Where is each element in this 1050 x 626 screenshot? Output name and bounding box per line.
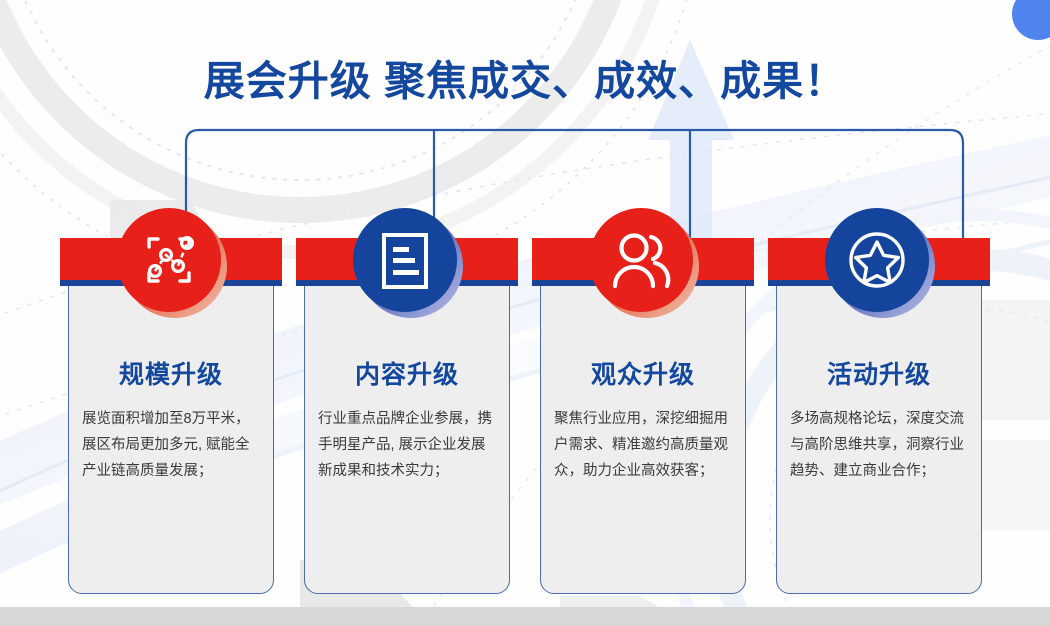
card-title: 内容升级 (296, 360, 518, 390)
document-icon (376, 229, 434, 291)
card-icon-badge (353, 208, 461, 316)
icon-badge-circle (353, 208, 457, 312)
card-icon-badge (117, 208, 225, 316)
upgrade-cards-row: 规模升级 展览面积增加至8万平米，展区布局更加多元, 赋能全产业链高质量发展； (60, 238, 990, 594)
upgrade-card[interactable]: 规模升级 展览面积增加至8万平米，展区布局更加多元, 赋能全产业链高质量发展； (60, 238, 282, 594)
card-icon-badge (825, 208, 933, 316)
footer-bar (0, 607, 1050, 626)
star-badge-icon (845, 228, 909, 292)
icon-badge-circle (117, 208, 221, 312)
upgrade-card[interactable]: 观众升级 聚焦行业应用，深挖细掘用户需求、精准邀约高质量观众，助力企业高效获客； (532, 238, 754, 594)
card-title: 规模升级 (60, 360, 282, 390)
upgrade-card[interactable]: 活动升级 多场高规格论坛，深度交流与高阶思维共享，洞察行业趋势、建立商业合作； (768, 238, 990, 594)
card-title: 观众升级 (532, 360, 754, 390)
card-description: 多场高规格论坛，深度交流与高阶思维共享，洞察行业趋势、建立商业合作； (790, 406, 972, 484)
icon-badge-circle (825, 208, 929, 312)
upgrade-card[interactable]: 内容升级 行业重点品牌企业参展，携手明星产品, 展示企业发展新成果和技术实力； (296, 238, 518, 594)
chart-scatter-icon (138, 229, 200, 291)
infographic-slide: 展会升级 聚焦成交、成效、成果！ (0, 0, 1050, 626)
card-icon-badge (589, 208, 697, 316)
people-icon (608, 229, 674, 291)
card-description: 聚焦行业应用，深挖细掘用户需求、精准邀约高质量观众，助力企业高效获客； (554, 406, 736, 484)
card-description: 展览面积增加至8万平米，展区布局更加多元, 赋能全产业链高质量发展； (82, 406, 264, 484)
icon-badge-circle (589, 208, 693, 312)
card-description: 行业重点品牌企业参展，携手明星产品, 展示企业发展新成果和技术实力； (318, 406, 500, 484)
card-title: 活动升级 (768, 360, 990, 390)
